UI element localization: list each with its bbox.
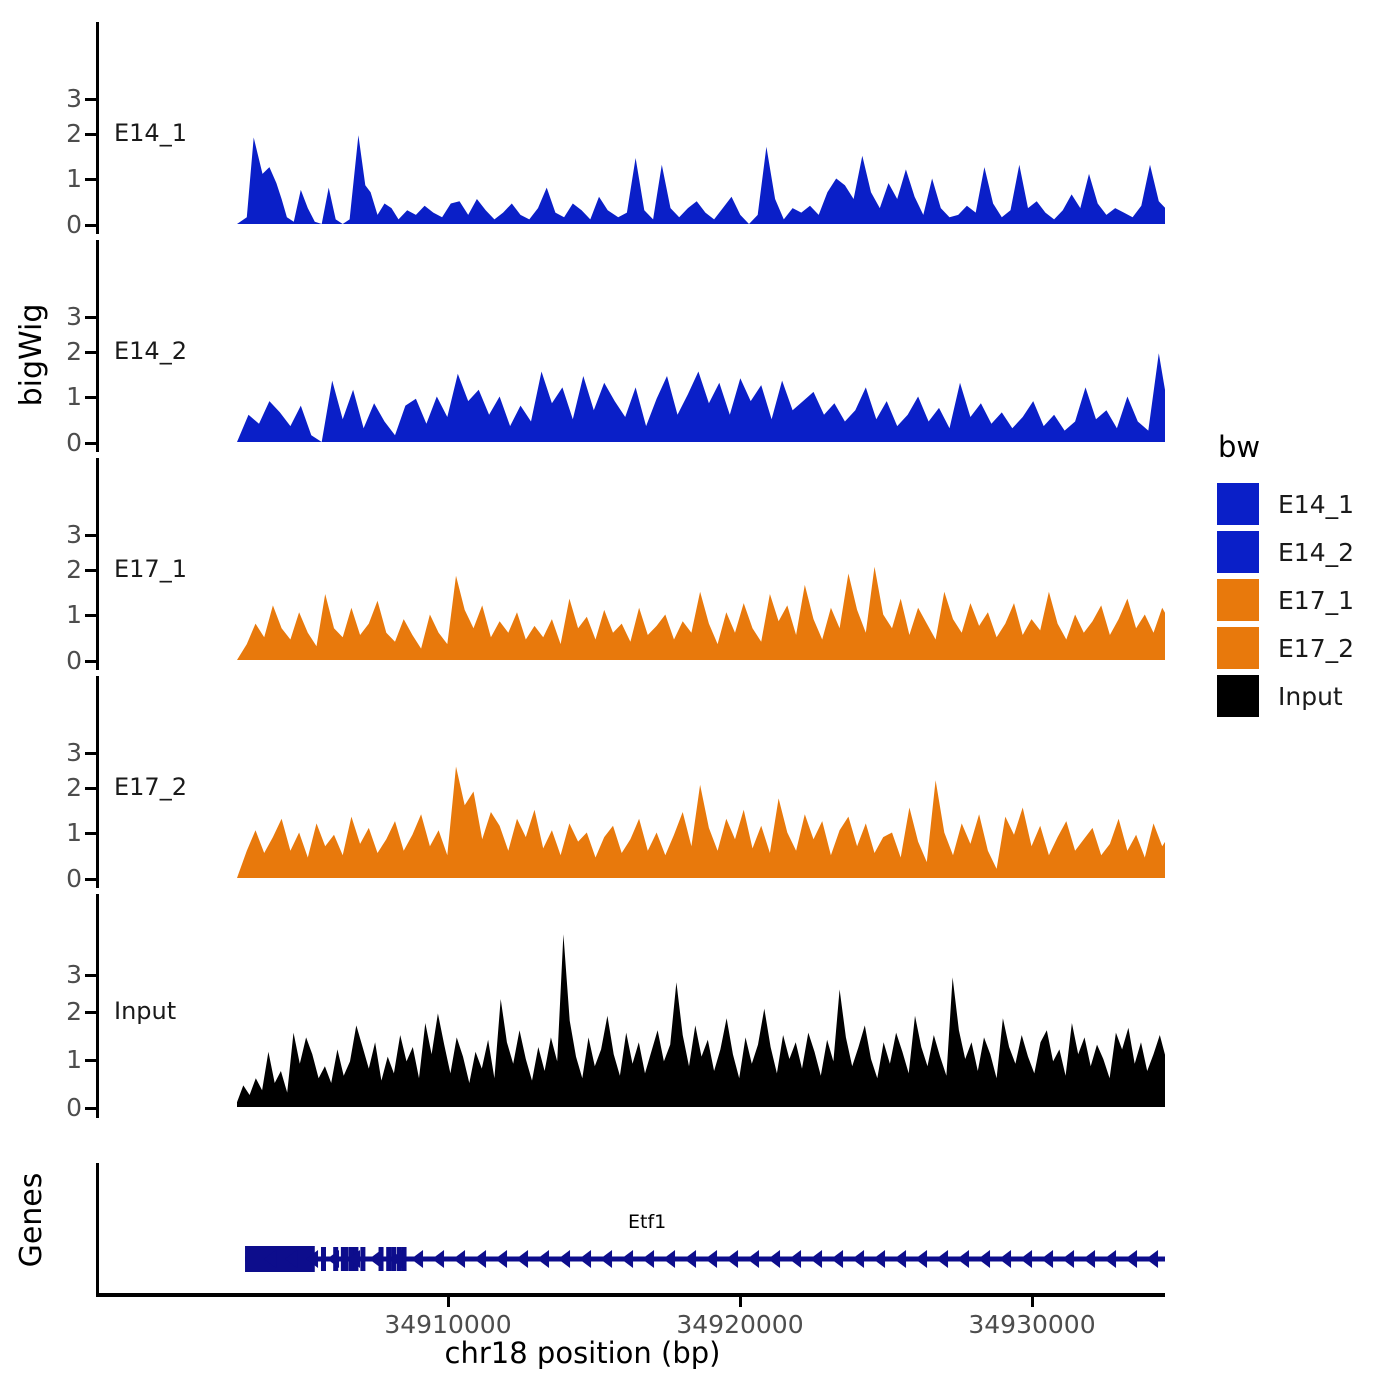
x-axis-title: chr18 position (bp) — [0, 1336, 1165, 1370]
gene-panel: Etf1 — [96, 1163, 1165, 1293]
gene-strand-arrow — [873, 1250, 885, 1268]
legend-item-input[interactable]: Input — [1216, 672, 1386, 720]
y-tick-label-2: 2 — [38, 121, 82, 146]
track-plot-e14-2 — [99, 240, 1165, 452]
y-axis-title-genes: Genes — [14, 1150, 49, 1290]
gene-strand-arrow — [915, 1250, 927, 1268]
signal-area-e17-1 — [237, 567, 1165, 660]
y-tick-3 — [85, 752, 96, 755]
gene-strand-arrow — [726, 1250, 738, 1268]
x-tick-1 — [739, 1297, 742, 1307]
gene-exon-6 — [360, 1247, 365, 1271]
gene-strand-arrow — [642, 1250, 654, 1268]
legend-swatch-e14-2 — [1216, 530, 1260, 574]
gene-strand-arrow — [474, 1250, 486, 1268]
y-tick-label-3: 3 — [38, 962, 82, 987]
gene-strand-arrow — [684, 1250, 696, 1268]
gene-plot-area — [99, 1163, 1165, 1293]
track-signal-e14-1 — [99, 22, 1165, 234]
gene-strand-arrow — [453, 1250, 465, 1268]
gene-strand-arrow — [957, 1250, 969, 1268]
y-tick-label-3: 3 — [38, 86, 82, 111]
gene-strand-arrow — [1104, 1250, 1116, 1268]
gene-strand-arrow — [768, 1250, 780, 1268]
gene-utr-block — [245, 1246, 315, 1272]
track-panel-input: 3 2 1 0 Input — [96, 894, 1165, 1118]
y-tick-0 — [85, 1107, 96, 1110]
track-signal-e17-1 — [99, 458, 1165, 670]
signal-area-e17-2 — [237, 767, 1165, 879]
y-tick-0 — [85, 878, 96, 881]
track-plot-e17-1 — [99, 458, 1165, 670]
track-panel-e14-1: 3 2 1 0 E14_1 — [96, 22, 1165, 234]
signal-area-input — [237, 934, 1165, 1107]
gene-strand-arrow — [411, 1250, 423, 1268]
y-tick-label-0: 0 — [38, 430, 82, 455]
legend-swatch-e14-1 — [1216, 482, 1260, 526]
gene-strand-arrow — [621, 1250, 633, 1268]
gene-strand-arrow — [1083, 1250, 1095, 1268]
gene-strand-arrow — [1041, 1250, 1053, 1268]
gene-strand-arrow — [1146, 1250, 1158, 1268]
y-tick-1 — [85, 614, 96, 617]
x-tick-0 — [447, 1297, 450, 1307]
gene-strand-arrow — [789, 1250, 801, 1268]
gene-strand-arrow — [495, 1250, 507, 1268]
legend-item-e14-1[interactable]: E14_1 — [1216, 480, 1386, 528]
y-tick-2 — [85, 569, 96, 572]
track-plot-input — [99, 894, 1165, 1118]
gene-strand-arrow — [936, 1250, 948, 1268]
gene-strand-arrow — [516, 1250, 528, 1268]
y-tick-label-3: 3 — [38, 522, 82, 547]
y-tick-1 — [85, 396, 96, 399]
y-tick-3 — [85, 974, 96, 977]
gene-model-etf1[interactable] — [99, 1163, 1165, 1293]
x-tick-label-2: 34930000 — [922, 1310, 1142, 1339]
gene-strand-arrow — [705, 1250, 717, 1268]
gene-strand-arrow — [1020, 1250, 1032, 1268]
legend-item-e14-2[interactable]: E14_2 — [1216, 528, 1386, 576]
legend-label-e14-1: E14_1 — [1278, 490, 1354, 519]
y-tick-0 — [85, 442, 96, 445]
gene-strand-arrow — [1125, 1250, 1137, 1268]
track-panel-e17-2: 3 2 1 0 E17_2 — [96, 676, 1165, 888]
signal-area-e14-1 — [237, 135, 1165, 224]
y-tick-label-1: 1 — [38, 166, 82, 191]
track-panel-e14-2: 3 2 1 0 E14_2 — [96, 240, 1165, 452]
legend-swatch-e17-2 — [1216, 626, 1260, 670]
gene-strand-arrow — [369, 1250, 381, 1268]
gene-strand-arrow — [852, 1250, 864, 1268]
y-tick-label-1: 1 — [38, 1047, 82, 1072]
y-tick-3 — [85, 316, 96, 319]
y-tick-label-2: 2 — [38, 557, 82, 582]
signal-area-e14-2 — [237, 353, 1165, 442]
y-tick-label-2: 2 — [38, 775, 82, 800]
y-tick-0 — [85, 660, 96, 663]
gene-strand-arrow — [810, 1250, 822, 1268]
y-tick-0 — [85, 224, 96, 227]
gene-strand-arrow — [600, 1250, 612, 1268]
y-tick-2 — [85, 787, 96, 790]
y-tick-2 — [85, 351, 96, 354]
legend-label-input: Input — [1278, 682, 1343, 711]
gene-strand-arrow — [663, 1250, 675, 1268]
gene-strand-arrow — [558, 1250, 570, 1268]
gene-strand-arrow — [327, 1250, 339, 1268]
y-tick-label-1: 1 — [38, 820, 82, 845]
gene-exon-11 — [402, 1247, 407, 1271]
y-tick-label-2: 2 — [38, 999, 82, 1024]
gene-strand-arrow — [831, 1250, 843, 1268]
gene-strand-arrow — [1062, 1250, 1074, 1268]
y-tick-3 — [85, 98, 96, 101]
x-tick-label-1: 34920000 — [630, 1310, 850, 1339]
y-tick-label-0: 0 — [38, 1095, 82, 1120]
legend-label-e17-2: E17_2 — [1278, 634, 1354, 663]
gene-strand-arrow — [579, 1250, 591, 1268]
track-plot-e17-2 — [99, 676, 1165, 888]
y-tick-2 — [85, 1011, 96, 1014]
track-signal-input — [99, 894, 1165, 1118]
y-tick-1 — [85, 1059, 96, 1062]
y-tick-label-1: 1 — [38, 384, 82, 409]
legend-swatch-input — [1216, 674, 1260, 718]
legend-item-e17-2[interactable]: E17_2 — [1216, 624, 1386, 672]
y-tick-1 — [85, 832, 96, 835]
gene-exon-0 — [321, 1247, 326, 1271]
y-tick-label-3: 3 — [38, 740, 82, 765]
y-tick-label-3: 3 — [38, 304, 82, 329]
y-tick-label-2: 2 — [38, 339, 82, 364]
y-tick-label-0: 0 — [38, 212, 82, 237]
gene-strand-arrow — [999, 1250, 1011, 1268]
gene-strand-arrow — [432, 1250, 444, 1268]
gene-strand-arrow — [894, 1250, 906, 1268]
x-axis-line — [96, 1293, 1165, 1297]
track-signal-e17-2 — [99, 676, 1165, 888]
x-tick-label-0: 34910000 — [338, 1310, 558, 1339]
legend: bw E14_1 E14_2 E17_1 E17_2 Input — [1216, 430, 1386, 720]
track-panel-e17-1: 3 2 1 0 E17_1 — [96, 458, 1165, 670]
legend-label-e14-2: E14_2 — [1278, 538, 1354, 567]
gene-strand-arrow — [747, 1250, 759, 1268]
y-tick-2 — [85, 133, 96, 136]
figure-root: bigWig Genes 3 2 1 0 E14_1 3 2 1 0 E14_2 — [0, 0, 1400, 1400]
gene-strand-arrow — [537, 1250, 549, 1268]
legend-item-e17-1[interactable]: E17_1 — [1216, 576, 1386, 624]
x-tick-2 — [1031, 1297, 1034, 1307]
track-plot-e14-1 — [99, 22, 1165, 234]
y-tick-label-1: 1 — [38, 602, 82, 627]
gene-exon-3 — [344, 1247, 349, 1271]
track-signal-e14-2 — [99, 240, 1165, 452]
y-tick-3 — [85, 534, 96, 537]
legend-swatch-e17-1 — [1216, 578, 1260, 622]
legend-title: bw — [1218, 430, 1386, 464]
gene-strand-arrow — [978, 1250, 990, 1268]
y-tick-1 — [85, 178, 96, 181]
legend-label-e17-1: E17_1 — [1278, 586, 1354, 615]
y-tick-label-0: 0 — [38, 648, 82, 673]
y-tick-label-0: 0 — [38, 866, 82, 891]
